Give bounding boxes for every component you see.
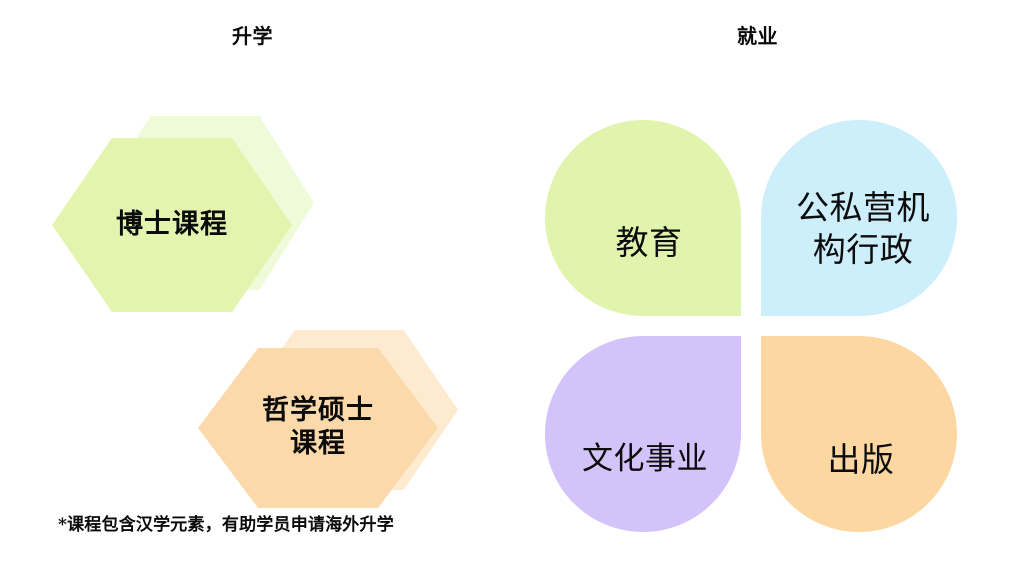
- career-petal-publishing[interactable]: 出版: [761, 336, 957, 532]
- pathways-footnote: *课程包含汉学元素，有助学员申请海外升学: [58, 515, 394, 535]
- slide-canvas: 升学 就业 博士课程 哲学硕士 课程 *课程包含汉学元素，有助学员申请海外升学 …: [0, 0, 1010, 578]
- career-label-public-private-administration: 公私营机 构行政: [796, 187, 930, 271]
- column-heading-employment: 就业: [505, 26, 1010, 46]
- pathway-label-doctoral-programme: 博士课程: [116, 209, 228, 242]
- pathway-label-mphil-programme: 哲学硕士 课程: [262, 395, 374, 461]
- career-petal-education[interactable]: 教育: [545, 120, 741, 316]
- career-petal-public-private-administration[interactable]: 公私营机 构行政: [761, 120, 957, 316]
- pathway-node-mphil-programme[interactable]: 哲学硕士 课程: [198, 330, 458, 508]
- pathway-node-doctoral-programme[interactable]: 博士课程: [52, 116, 317, 312]
- career-label-publishing: 出版: [828, 439, 895, 481]
- career-flower-diagram: 教育 公私营机 构行政 文化事业 出版: [545, 120, 957, 532]
- career-label-education: 教育: [616, 222, 683, 264]
- column-heading-further-study: 升学: [0, 26, 505, 46]
- career-petal-cultural-undertakings[interactable]: 文化事业: [545, 336, 741, 532]
- career-label-cultural-undertakings: 文化事业: [582, 440, 708, 480]
